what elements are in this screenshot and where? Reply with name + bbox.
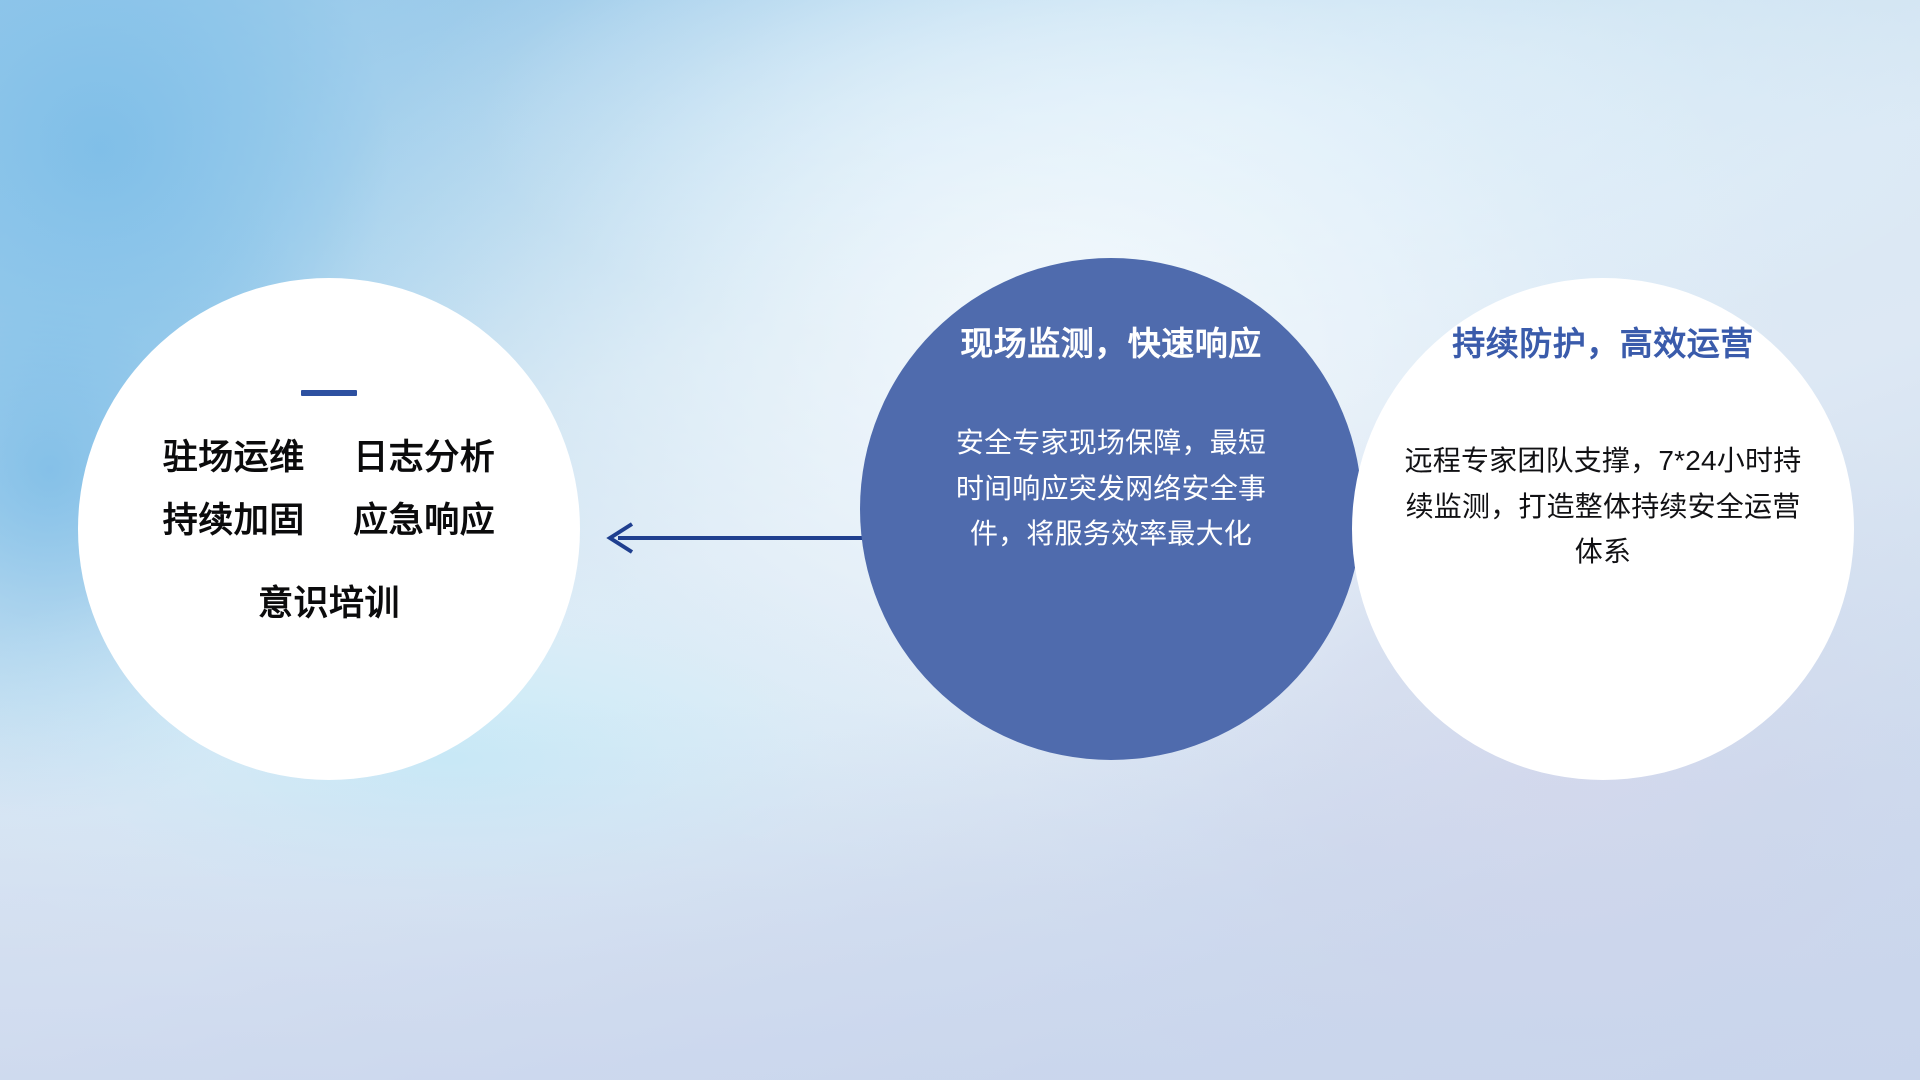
capability-item-zhuchangyunwei: 驻场运维 bbox=[163, 438, 305, 477]
continuous-protection-title: 持续防护，高效运营 bbox=[1452, 326, 1754, 362]
slide-canvas: 驻场运维 日志分析 持续加固 应急响应 意识培训 现场监测，快速响应 安全专家现… bbox=[0, 0, 1920, 1080]
capability-list-content: 驻场运维 日志分析 持续加固 应急响应 意识培训 bbox=[78, 278, 580, 780]
capability-item-chixujiagu: 持续加固 bbox=[163, 501, 305, 540]
capability-lines: 驻场运维 日志分析 持续加固 应急响应 意识培训 bbox=[163, 440, 496, 621]
onsite-monitoring-title: 现场监测，快速响应 bbox=[960, 326, 1262, 362]
capability-line-2: 持续加固 应急响应 bbox=[163, 503, 496, 538]
continuous-protection-content: 持续防护，高效运营 远程专家团队支撑，7*24小时持续监测，打造整体持续安全运营… bbox=[1352, 278, 1854, 780]
capability-list-circle: 驻场运维 日志分析 持续加固 应急响应 意识培训 bbox=[78, 278, 580, 780]
onsite-monitoring-content: 现场监测，快速响应 安全专家现场保障，最短时间响应突发网络安全事件，将服务效率最… bbox=[860, 258, 1362, 760]
onsite-monitoring-body: 安全专家现场保障，最短时间响应突发网络安全事件，将服务效率最大化 bbox=[946, 420, 1276, 556]
capability-line-1: 驻场运维 日志分析 bbox=[163, 440, 496, 475]
continuous-protection-body: 远程专家团队支撑，7*24小时持续监测，打造整体持续安全运营体系 bbox=[1403, 438, 1803, 574]
flow-arrow-left bbox=[596, 512, 876, 564]
continuous-protection-circle: 持续防护，高效运营 远程专家团队支撑，7*24小时持续监测，打造整体持续安全运营… bbox=[1352, 278, 1854, 780]
capability-line-3: 意识培训 bbox=[258, 586, 400, 621]
accent-dash-icon bbox=[301, 390, 357, 396]
capability-item-rizhifenxi: 日志分析 bbox=[353, 438, 495, 477]
capability-item-yingjixiangying: 应急响应 bbox=[353, 501, 495, 540]
onsite-monitoring-circle: 现场监测，快速响应 安全专家现场保障，最短时间响应突发网络安全事件，将服务效率最… bbox=[860, 258, 1362, 760]
